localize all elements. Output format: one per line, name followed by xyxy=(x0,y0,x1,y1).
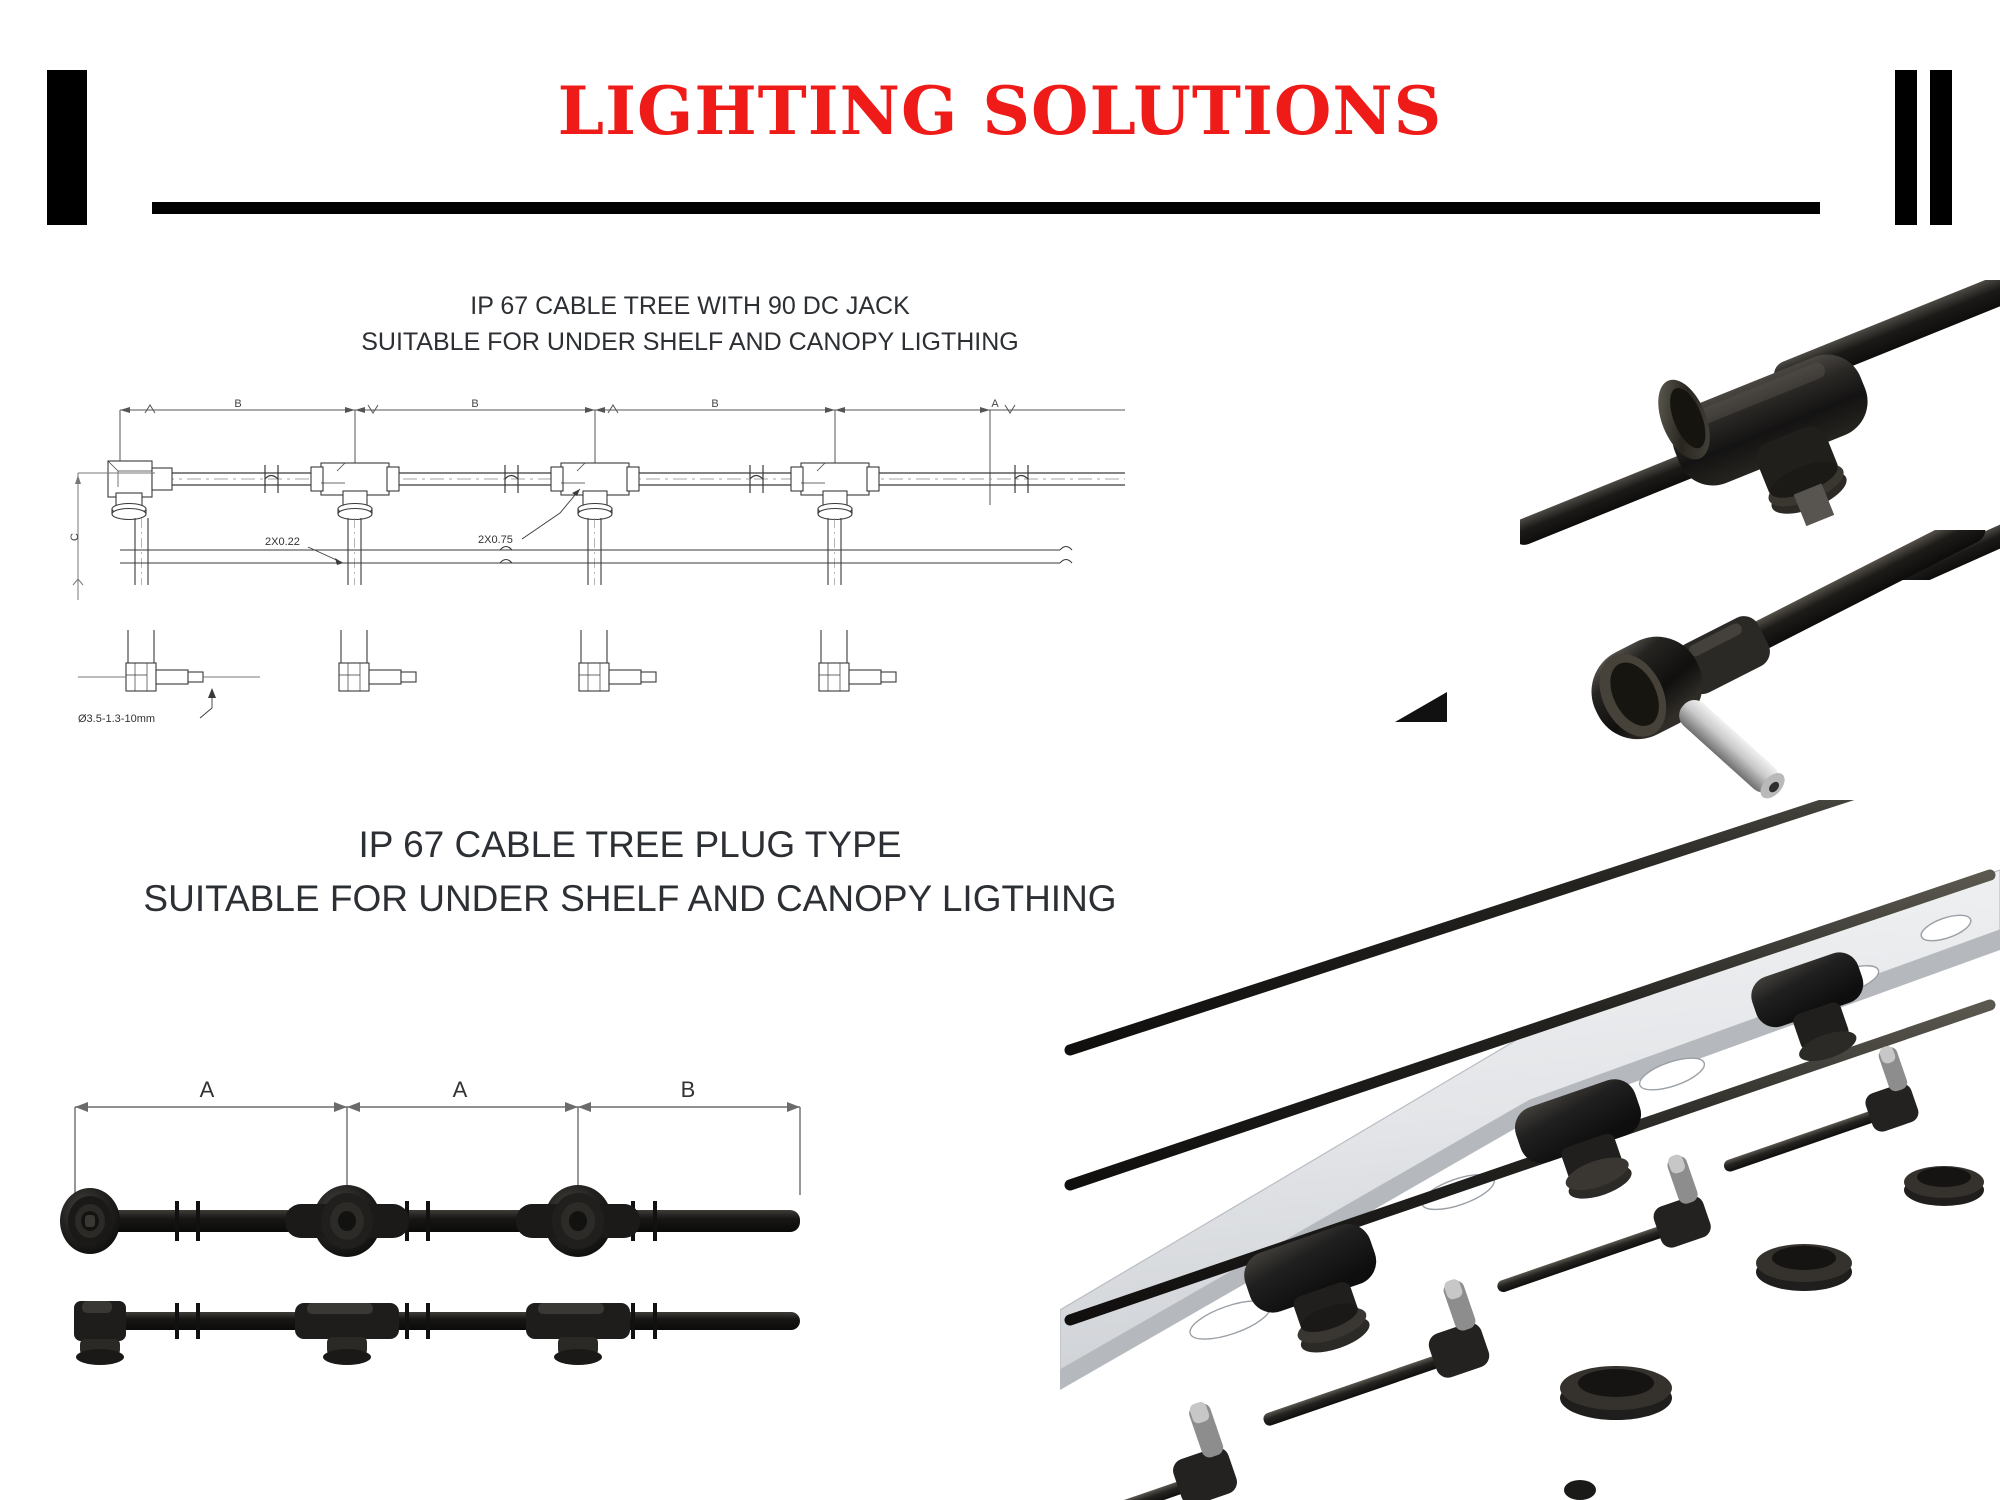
dc-jack-photo xyxy=(1570,530,2000,800)
triangle-marker xyxy=(1395,690,1465,730)
cable-tree-plug-type-drawing: A A B xyxy=(55,1075,845,1365)
cable-tree-dc-jack-ends: Ø3.5-1.3-10mm xyxy=(60,630,1160,740)
svg-text:B: B xyxy=(471,398,478,410)
svg-text:2X0.75: 2X0.75 xyxy=(478,534,513,546)
svg-text:B: B xyxy=(681,1077,696,1102)
section-1-caption: IP 67 CABLE TREE WITH 90 DC JACK SUITABL… xyxy=(180,288,1200,361)
section-2-caption: IP 67 CABLE TREE PLUG TYPE SUITABLE FOR … xyxy=(120,818,1140,925)
svg-text:A: A xyxy=(991,398,999,410)
svg-text:A: A xyxy=(200,1077,215,1102)
header-divider xyxy=(152,202,1820,214)
svg-text:Ø3.5-1.3-10mm: Ø3.5-1.3-10mm xyxy=(78,713,155,725)
svg-text:A: A xyxy=(453,1077,468,1102)
svg-text:B: B xyxy=(711,398,718,410)
svg-text:2X0.22: 2X0.22 xyxy=(265,536,300,548)
slide-page: LIGHTING SOLUTIONS IP 67 CABLE TREE WITH… xyxy=(0,0,2000,1500)
svg-text:B: B xyxy=(234,398,241,410)
svg-text:C: C xyxy=(69,533,81,541)
cable-tree-dc-jack-drawing: B B B A xyxy=(60,385,1160,605)
page-title: LIGHTING SOLUTIONS xyxy=(0,78,2000,144)
assembly-render xyxy=(1060,800,2000,1500)
